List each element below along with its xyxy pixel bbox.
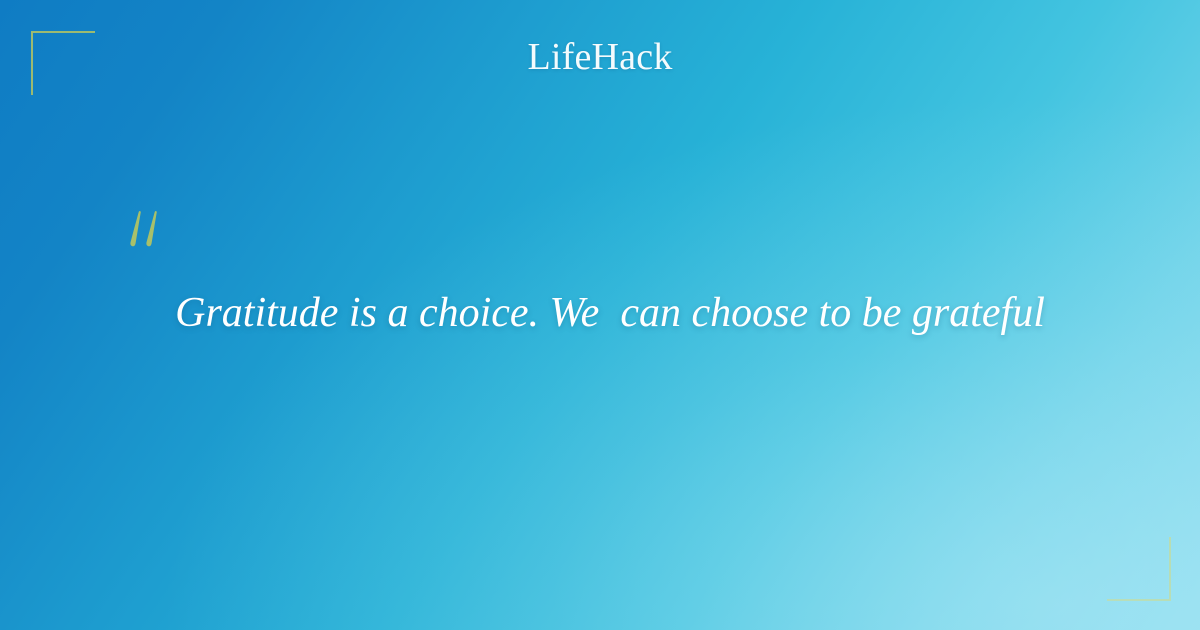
brand-logo: LifeHack: [0, 38, 1200, 76]
quote-text: Gratitude is a choice. We can choose to …: [120, 288, 1100, 339]
quote-card: LifeHack Gratitude is a choice. We can c…: [0, 0, 1200, 630]
brand-logo-text: LifeHack: [527, 38, 672, 76]
double-quote-icon: [126, 206, 186, 268]
corner-bracket-bottom-right-icon: [1107, 537, 1171, 601]
